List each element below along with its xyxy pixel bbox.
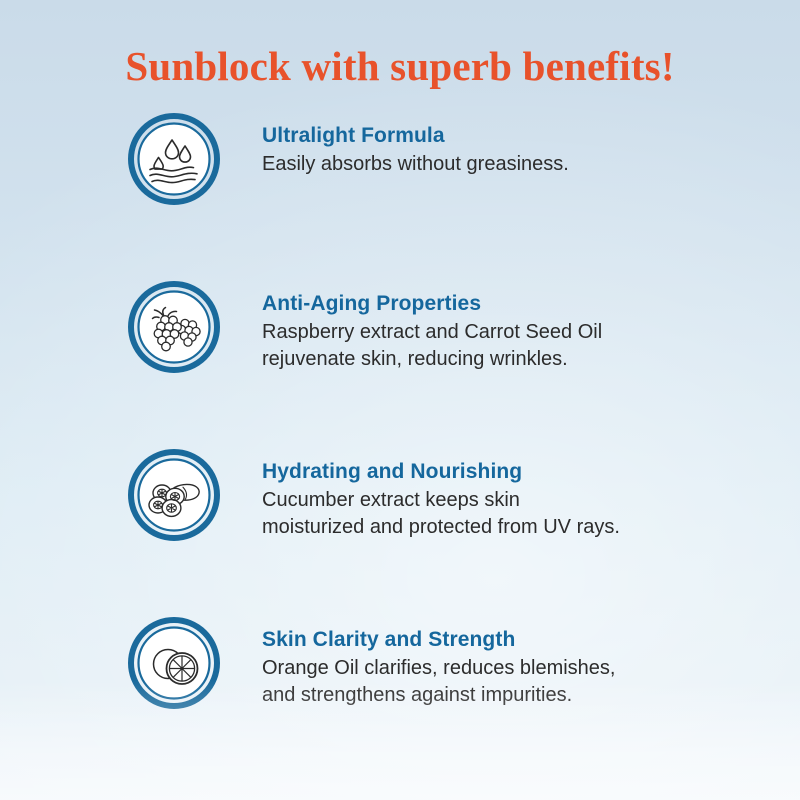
benefit-heading: Anti-Aging Properties [262,290,602,317]
benefit-description-line: Orange Oil clarifies, reduces blemishes, [262,655,615,682]
orange-slice-icon [128,617,220,709]
benefit-description-line: Cucumber extract keeps skin [262,487,620,514]
benefit-description-line: and strengthens against impurities. [262,682,615,709]
benefit-description-line: Easily absorbs without greasiness. [262,151,569,178]
benefit-text: Skin Clarity and Strength Orange Oil cla… [262,609,615,709]
benefit-description: Raspberry extract and Carrot Seed Oil re… [262,319,602,373]
benefit-description-line: rejuvenate skin, reducing wrinkles. [262,346,602,373]
benefit-description-line: Raspberry extract and Carrot Seed Oil [262,319,602,346]
benefit-heading: Ultralight Formula [262,122,569,149]
benefit-item: Skin Clarity and Strength Orange Oil cla… [0,609,800,777]
water-droplets-icon [128,113,220,205]
cucumber-slices-icon [128,449,220,541]
benefit-text: Ultralight Formula Easily absorbs withou… [262,105,569,178]
benefit-description: Orange Oil clarifies, reduces blemishes,… [262,655,615,709]
benefit-item: Anti-Aging Properties Raspberry extract … [0,273,800,441]
benefit-item: Ultralight Formula Easily absorbs withou… [0,105,800,273]
raspberry-icon [128,281,220,373]
benefit-description: Easily absorbs without greasiness. [262,151,569,178]
benefit-description: Cucumber extract keeps skin moisturized … [262,487,620,541]
benefits-poster: Sunblock with superb benefits! [0,0,800,800]
benefit-description-line: moisturized and protected from UV rays. [262,514,620,541]
benefit-text: Anti-Aging Properties Raspberry extract … [262,273,602,373]
benefit-heading: Skin Clarity and Strength [262,626,615,653]
benefits-list: Ultralight Formula Easily absorbs withou… [0,105,800,777]
page-title: Sunblock with superb benefits! [0,42,800,90]
benefit-heading: Hydrating and Nourishing [262,458,620,485]
benefit-text: Hydrating and Nourishing Cucumber extrac… [262,441,620,541]
benefit-item: Hydrating and Nourishing Cucumber extrac… [0,441,800,609]
